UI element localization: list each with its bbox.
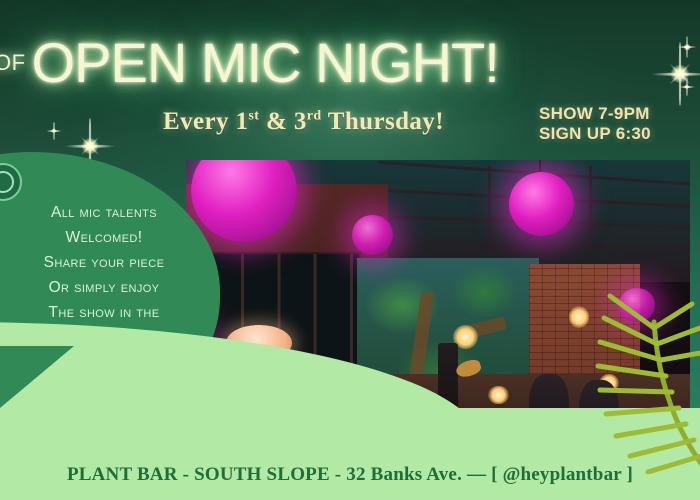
- footer-text: PLANT BAR - SOUTH SLOPE - 32 Banks Ave. …: [0, 464, 700, 486]
- blurb-line: All Mic Talents: [6, 200, 202, 225]
- subheadline-part2: & 3: [259, 108, 306, 135]
- subheadline-part3: Thursday!: [322, 108, 444, 135]
- subheadline-part1: Every 1: [163, 108, 248, 135]
- showtime-line-1: SHOW 7-9PM: [539, 104, 651, 124]
- headline-row: OF OPEN MIC NIGHT!: [0, 30, 700, 96]
- subheadline: Every 1st & 3rd Thursday!: [163, 108, 444, 136]
- magenta-lantern-icon: [352, 215, 392, 255]
- blurb-line: the show in the: [6, 300, 202, 325]
- poster-canvas: OF OPEN MIC NIGHT! Every 1st & 3r: [0, 0, 700, 500]
- hanging-bulb-icon: [488, 386, 508, 404]
- subheadline-ordinal-2: rd: [307, 109, 322, 124]
- page-title: OPEN MIC NIGHT!: [32, 35, 499, 91]
- subheadline-ordinal-1: st: [248, 109, 259, 124]
- hanging-bulb-icon: [569, 306, 589, 327]
- blurb-line: Share your piece: [6, 250, 202, 275]
- blurb-line: Welcomed!: [6, 225, 202, 250]
- photo-beam: [589, 166, 592, 245]
- headline-prefix: OF: [0, 50, 26, 76]
- blurb-line: or simply enjoy: [6, 275, 202, 300]
- sparkle-icon: [45, 122, 63, 140]
- signup-line-2: SIGN UP 6:30: [539, 124, 651, 144]
- photo-beam: [488, 166, 491, 258]
- magenta-lantern-icon: [619, 288, 654, 322]
- magenta-lantern-icon: [509, 172, 575, 236]
- showtime-block: SHOW 7-9PM SIGN UP 6:30: [539, 104, 651, 144]
